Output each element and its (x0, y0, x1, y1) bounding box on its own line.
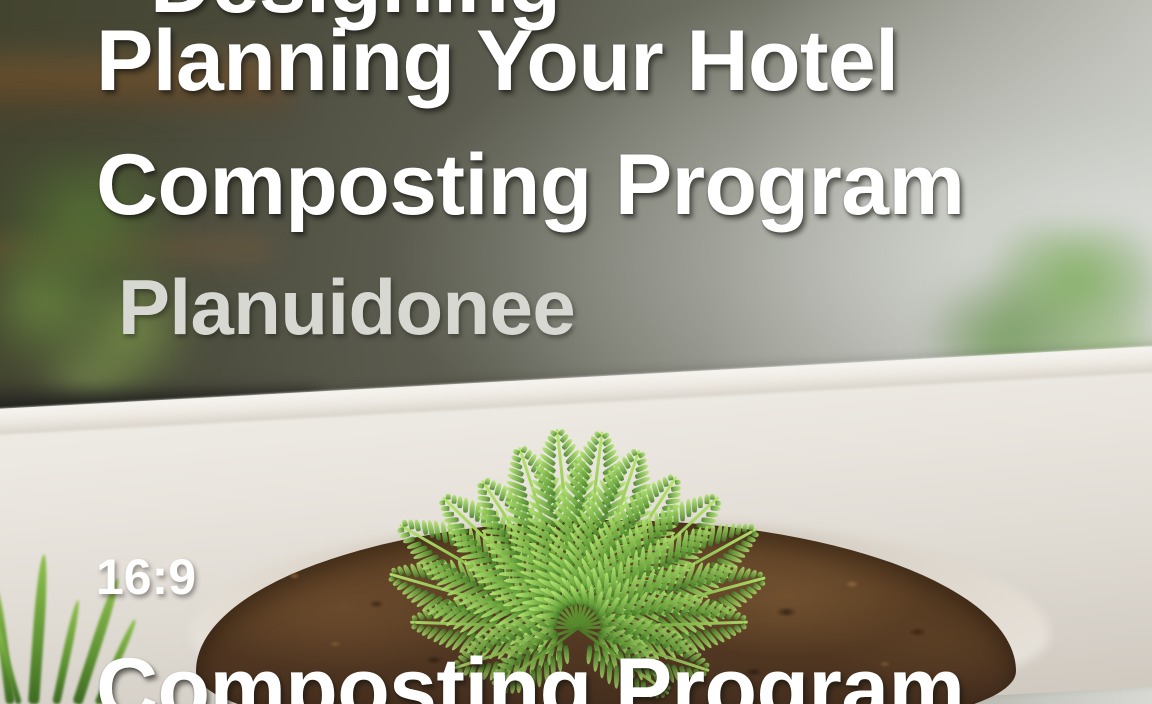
fern-leaflet (477, 483, 484, 489)
fern-leaflet (692, 497, 697, 512)
fern-leaflet (444, 517, 459, 523)
fern-leaflet (674, 479, 681, 485)
headline-line-2: Composting Program (96, 136, 964, 235)
fern-leaflet (414, 519, 422, 532)
aspect-ratio-badge: 16:9 (96, 548, 196, 606)
fern-leaflet (477, 489, 487, 496)
fern-leaflet (446, 494, 451, 500)
fern-leaflet (665, 498, 681, 505)
fern-leaflet (668, 491, 681, 498)
fern-leaflet (710, 493, 715, 500)
fern-leaflet (480, 522, 503, 529)
fern-leaflet (671, 485, 681, 492)
fern-leaflet (704, 494, 709, 504)
fern-leaflet (706, 511, 719, 517)
fern-leaflet (402, 519, 408, 527)
poster-canvas: Designing Planning Your Hotel Composting… (0, 0, 1152, 704)
headline-line-1: Planning Your Hotel (96, 12, 898, 111)
fern-leaflet (463, 498, 469, 513)
fern-leaflet (457, 496, 462, 509)
grass-blade (28, 554, 49, 704)
bottom-headline: Composting Program (96, 640, 964, 704)
fern-leaflet (469, 499, 475, 517)
fern-plant (318, 322, 838, 642)
fern-leaflet (439, 500, 446, 505)
fern-leaflet (686, 499, 692, 517)
fern-leaflet (440, 506, 450, 512)
fern-leaflet (478, 508, 497, 515)
fern-leaflet (452, 495, 457, 505)
fern-leaflet (698, 496, 703, 509)
fern-leaflet (679, 501, 685, 521)
subheadline-line-3: Planuidonee (118, 262, 575, 353)
fern-leaflet (715, 500, 722, 505)
fern-leaflet (711, 506, 721, 512)
